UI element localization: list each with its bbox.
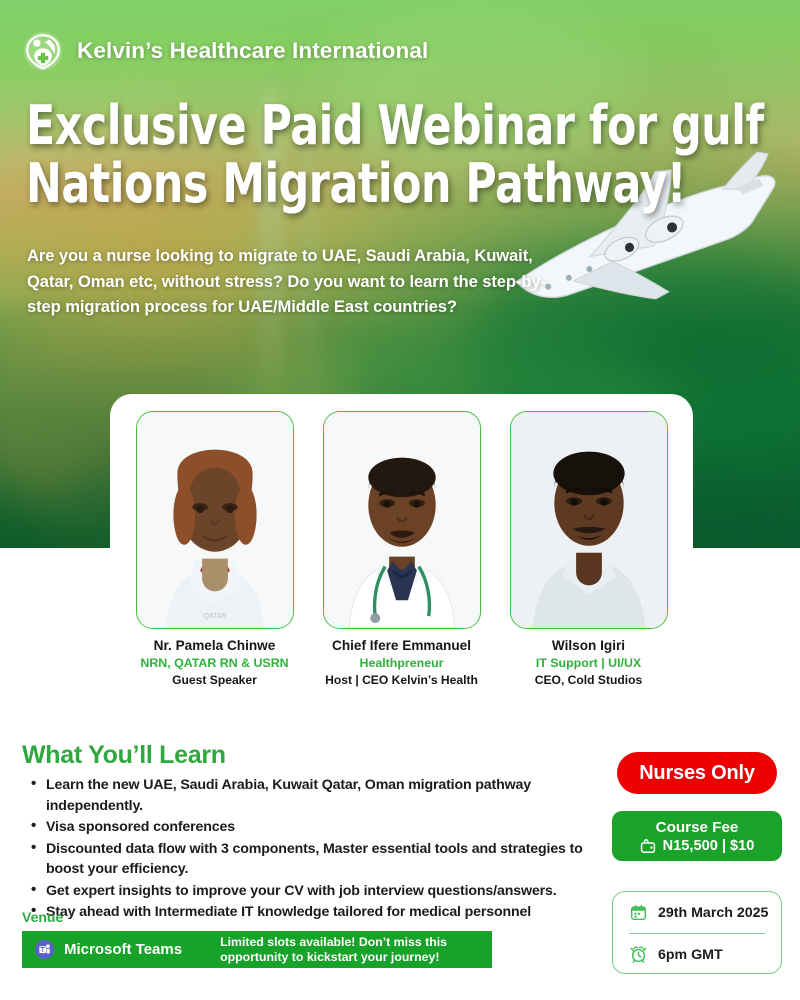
speaker-name: Nr. Pamela Chinwe xyxy=(154,638,276,654)
brand-name: Kelvin’s Healthcare International xyxy=(77,38,428,64)
schedule-card: 29th March 2025 6pm GMT xyxy=(612,891,782,974)
learn-section: What You’ll Learn Learn the new UAE, Sau… xyxy=(22,740,592,924)
audience-badge-label: Nurses Only xyxy=(639,762,755,785)
learn-list: Learn the new UAE, Saudi Arabia, Kuwait … xyxy=(22,775,592,923)
headline-line-2: Nations Migration Pathway! xyxy=(26,155,589,213)
svg-text:QATAR: QATAR xyxy=(203,613,226,620)
venue-label: Venue xyxy=(22,909,63,925)
speaker-photo-icon xyxy=(510,411,668,629)
calendar-icon xyxy=(630,904,647,921)
alarm-clock-icon xyxy=(630,946,647,963)
venue-note: Limited slots available! Don’t miss this… xyxy=(220,935,447,965)
course-fee-badge: Course Fee N15,500 | $10 xyxy=(612,811,782,861)
speaker-org: Guest Speaker xyxy=(172,673,257,688)
list-item: Get expert insights to improve your CV w… xyxy=(22,881,592,902)
speaker-card: Chief Ifere Emmanuel Healthpreneur Host … xyxy=(319,411,484,704)
schedule-date: 29th March 2025 xyxy=(658,905,768,921)
schedule-time: 6pm GMT xyxy=(658,947,723,963)
microsoft-teams-icon xyxy=(35,940,54,959)
learn-section-title: What You’ll Learn xyxy=(22,740,592,770)
course-fee-amount: N15,500 | $10 xyxy=(663,838,755,854)
webinar-flyer: Kelvin’s Healthcare International Exclus… xyxy=(0,0,800,1000)
schedule-time-row: 6pm GMT xyxy=(613,934,781,975)
speaker-photo-icon xyxy=(323,411,481,629)
speaker-role: Healthpreneur xyxy=(360,656,444,671)
venue-note-line-2: opportunity to kickstart your journey! xyxy=(220,950,447,965)
speaker-role: IT Support | UI/UX xyxy=(536,656,641,671)
speaker-org: Host | CEO Kelvin’s Health xyxy=(325,673,478,688)
speaker-org: CEO, Cold Studios xyxy=(535,673,643,688)
list-item: Learn the new UAE, Saudi Arabia, Kuwait … xyxy=(22,775,592,816)
page-title: Exclusive Paid Webinar for gulf Nations … xyxy=(26,97,589,213)
course-fee-row: N15,500 | $10 xyxy=(640,838,755,854)
course-fee-title: Course Fee xyxy=(656,818,739,837)
heart-cross-logo-icon xyxy=(22,30,64,72)
headline-line-1: Exclusive Paid Webinar for gulf xyxy=(26,97,589,155)
venue-bar: Microsoft Teams Limited slots available!… xyxy=(22,931,492,968)
list-item: Stay ahead with Intermediate IT knowledg… xyxy=(22,902,592,923)
speaker-name: Wilson Igiri xyxy=(552,638,625,654)
speakers-panel: QATAR Nr. Pamela Chinwe NRN, QATAR RN & … xyxy=(110,394,693,704)
brand-header: Kelvin’s Healthcare International xyxy=(22,30,428,72)
speaker-card: Wilson Igiri IT Support | UI/UX CEO, Col… xyxy=(506,411,671,704)
list-item: Discounted data flow with 3 components, … xyxy=(22,839,592,880)
speaker-photo-icon: QATAR xyxy=(136,411,294,629)
wallet-icon xyxy=(640,838,656,854)
hero-subtitle: Are you a nurse looking to migrate to UA… xyxy=(27,243,547,320)
schedule-date-row: 29th March 2025 xyxy=(613,892,781,933)
audience-badge: Nurses Only xyxy=(617,752,777,794)
list-item: Visa sponsored conferences xyxy=(22,817,592,838)
speaker-name: Chief Ifere Emmanuel xyxy=(332,638,471,654)
venue-platform-name: Microsoft Teams xyxy=(64,941,182,958)
speaker-role: NRN, QATAR RN & USRN xyxy=(140,656,288,671)
speaker-card: QATAR Nr. Pamela Chinwe NRN, QATAR RN & … xyxy=(132,411,297,704)
venue-note-line-1: Limited slots available! Don’t miss this xyxy=(220,935,447,950)
